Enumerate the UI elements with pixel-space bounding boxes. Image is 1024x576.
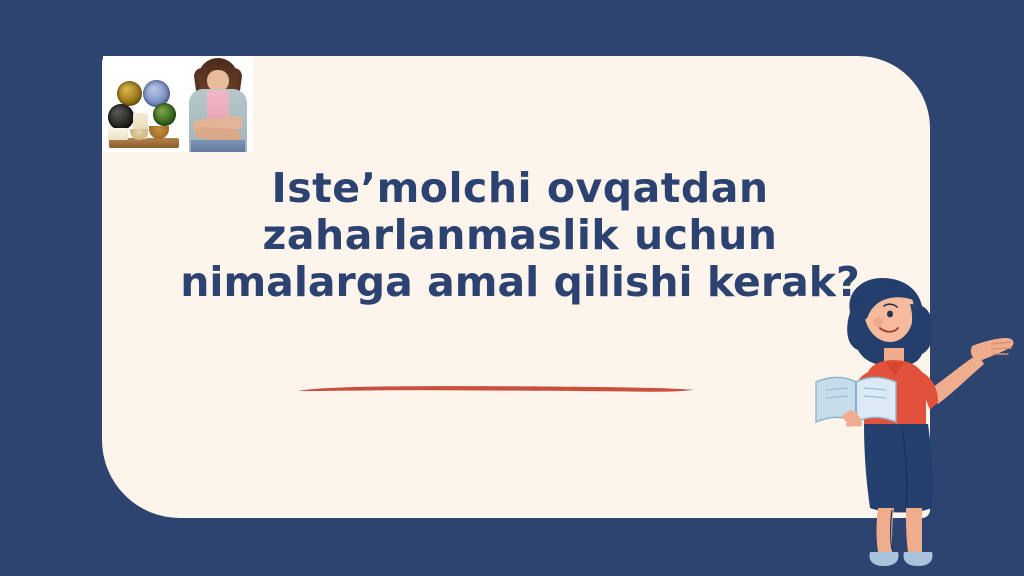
open-hand: [971, 338, 1014, 360]
headline-line-3: nimalarga amal qilishi kerak?: [150, 259, 890, 306]
headline-line-2: zaharlanmaslik uchun: [150, 212, 890, 259]
slide-canvas: woman holding her stomach in pain Iste’m…: [0, 0, 1024, 576]
microbe-green-icon: [153, 103, 176, 126]
legs: [877, 508, 923, 552]
woman-with-book-illustration: [806, 276, 1024, 576]
microbe-food-photo-half: [103, 56, 181, 152]
headline-line-1: Iste’molchi ovqatdan: [150, 165, 890, 212]
page-title: Iste’molchi ovqatdan zaharlanmaslik uchu…: [150, 165, 890, 306]
red-brush-underline: [296, 380, 696, 398]
microbe-gold-icon: [117, 81, 142, 106]
food-poisoning-photo: woman holding her stomach in pain: [103, 56, 253, 152]
jeans: [191, 140, 245, 152]
sick-woman-photo-half: [181, 56, 253, 152]
shoes: [870, 552, 933, 566]
navy-skirt: [864, 424, 933, 513]
tofu-block: [108, 128, 128, 140]
microbe-dark-icon: [108, 104, 134, 130]
